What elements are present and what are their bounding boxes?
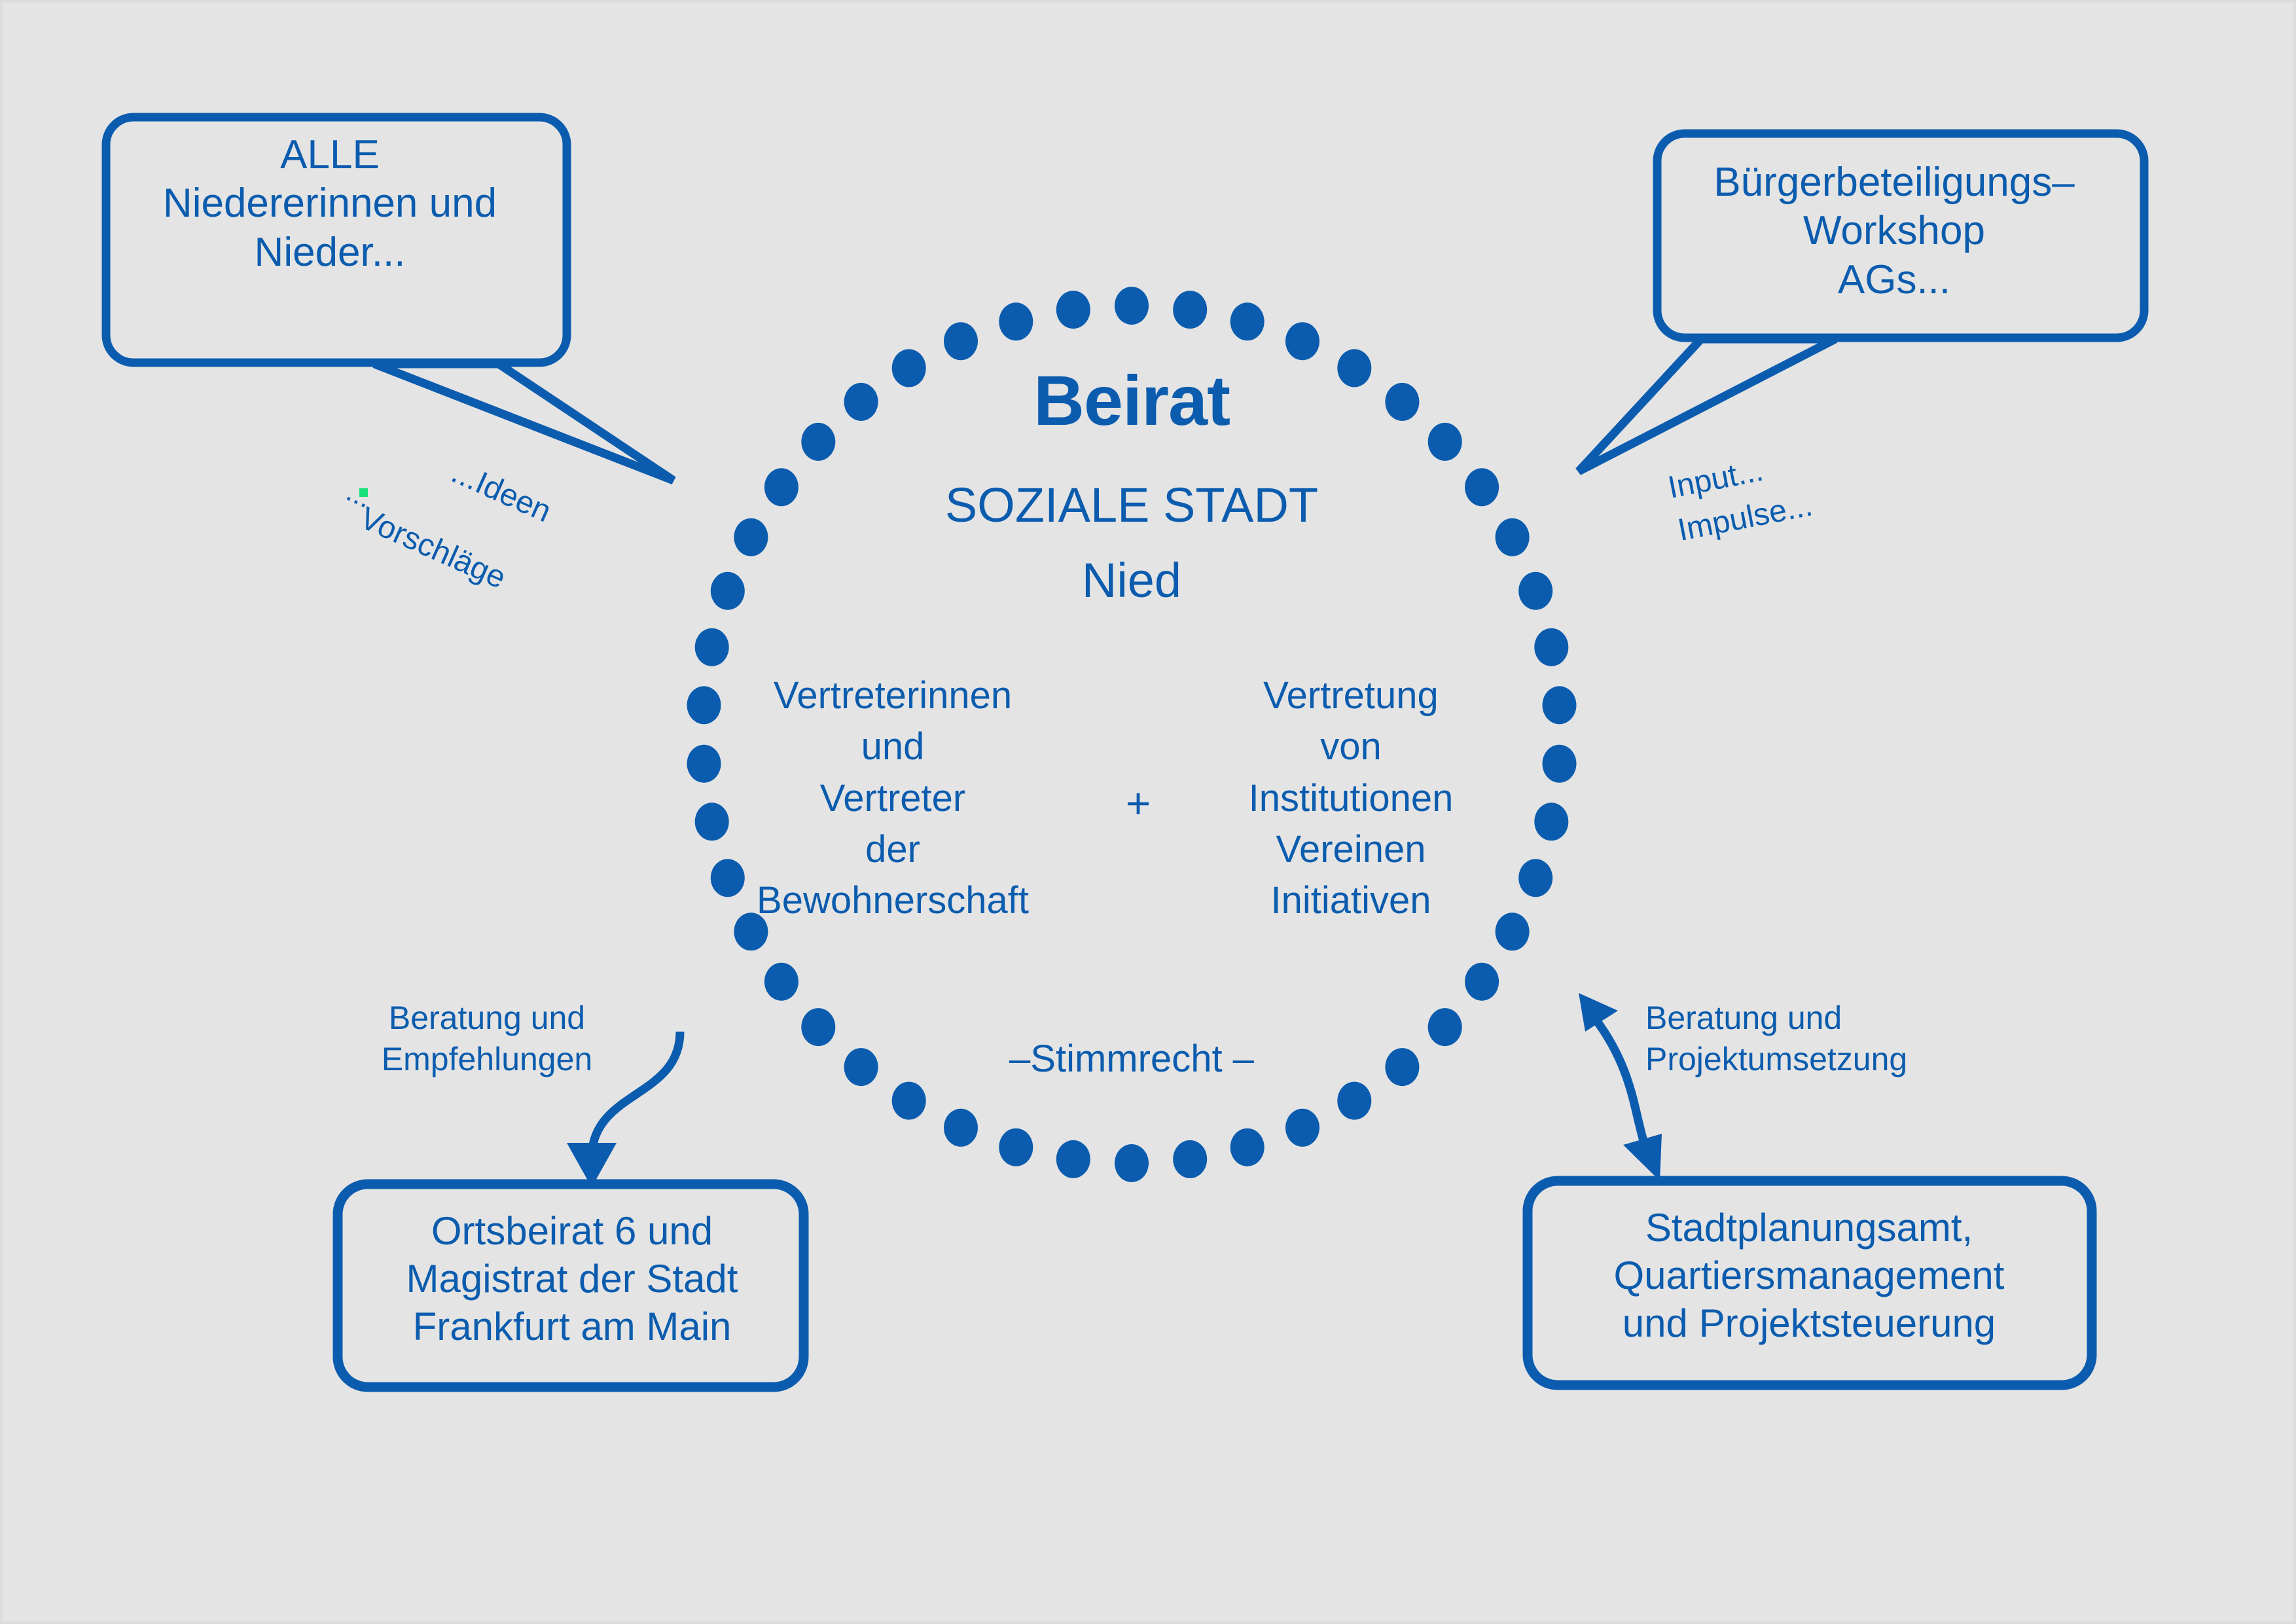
green-marker-dot (359, 488, 368, 497)
circle-dot (1518, 572, 1552, 610)
diagram-canvas: ALLE Niedererinnen und Nieder... Bürgerb… (0, 0, 2296, 1624)
circle-dot (1518, 859, 1552, 897)
stimmrecht-note: –Stimmrecht – (788, 1037, 1475, 1081)
bubble-left-label: ALLE Niedererinnen und Nieder... (94, 131, 565, 277)
circle-dot (695, 628, 729, 666)
annotation-beratung-projektumsetzung: Beratung und Projektumsetzung (1645, 998, 1973, 1079)
circle-dot (1056, 291, 1090, 329)
circle-dot (999, 1128, 1033, 1166)
circle-dot (1465, 963, 1499, 1001)
circle-dot (1056, 1140, 1090, 1178)
circle-dot (1496, 518, 1530, 556)
box-stadtplanungsamt-label: Stadtplanungsamt, Quartiersmanagement un… (1521, 1204, 2097, 1348)
circle-dot (944, 1109, 978, 1147)
circle-dot (1173, 1140, 1207, 1178)
circle-dot (1543, 745, 1577, 783)
circle-dot (1534, 628, 1568, 666)
circle-dot (1285, 322, 1319, 360)
circle-dot (944, 322, 978, 360)
annotation-beratung-empfehlungen: Beratung und Empfehlungen (343, 998, 631, 1079)
center-column-left: Vertreterinnen und Vertreter der Bewohne… (709, 670, 1076, 926)
circle-dot (764, 963, 798, 1001)
page-title: Beirat (788, 359, 1475, 441)
circle-dot (711, 572, 745, 610)
circle-dot (1230, 302, 1265, 340)
circle-dot (1230, 1128, 1265, 1166)
circle-dot (892, 1082, 926, 1120)
circle-dot (1115, 287, 1149, 325)
center-subtitle: SOZIALE STADT (788, 477, 1475, 533)
circle-dot (734, 518, 768, 556)
circle-dot (1285, 1109, 1319, 1147)
circle-dot (999, 302, 1033, 340)
circle-dot (1337, 1082, 1371, 1120)
circle-dot (1534, 803, 1568, 840)
bubble-right-label: Bürgerbeteiligungs– Workshop AGs... (1665, 158, 2123, 304)
center-location: Nied (788, 552, 1475, 608)
circle-dot (1543, 686, 1577, 724)
plus-symbol: + (1076, 778, 1200, 828)
box-ortsbeirat-label: Ortsbeirat 6 und Magistrat der Stadt Fra… (330, 1207, 814, 1351)
circle-dot (1115, 1144, 1149, 1182)
circle-dot (1173, 291, 1207, 329)
center-column-right: Vertretung von Institutionen Vereinen In… (1200, 670, 1501, 926)
